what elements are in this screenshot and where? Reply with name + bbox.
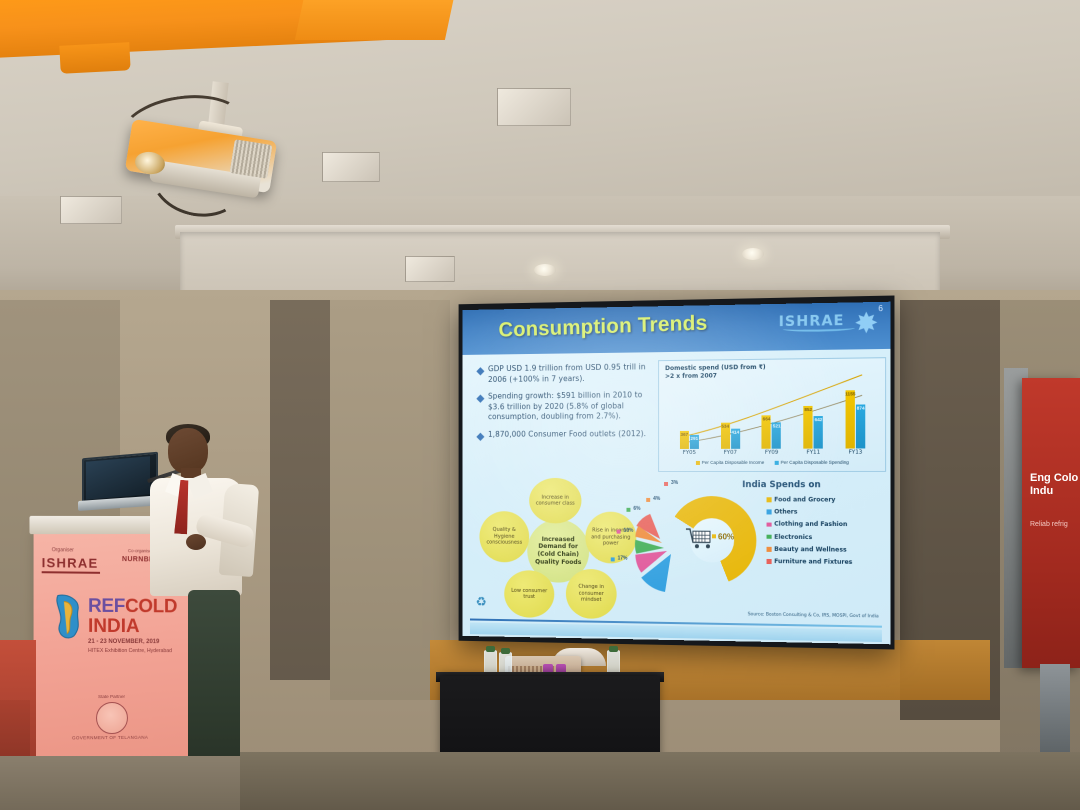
bar-value-label: 642 (815, 417, 823, 422)
bar-value-label: 414 (731, 429, 739, 434)
pie-chart-title: India Spends on (742, 480, 821, 490)
bar-value-label: 874 (857, 405, 865, 410)
bar: 852 (804, 406, 813, 449)
bar-value-label: 852 (804, 407, 812, 412)
legend-label: Furniture and Fixtures (774, 558, 852, 566)
bar: 414 (731, 428, 740, 449)
bottle-cap (486, 646, 495, 652)
legend-swatch (767, 547, 772, 552)
legend-item: Per Capita Disposable Spending (775, 460, 849, 465)
bullet-diamond-icon (476, 432, 484, 440)
bar-group: 534414 (721, 422, 740, 449)
bottle-cap (609, 646, 618, 652)
pie-value-label: 17% (618, 555, 628, 561)
banner-stand (1040, 664, 1070, 760)
ceiling-downlight (742, 248, 764, 260)
floor-carpet (240, 752, 1080, 810)
bar-value-label: 664 (763, 417, 771, 422)
legend-label: Food and Grocery (774, 496, 835, 503)
legend-item: Electronics (767, 533, 887, 541)
orange-beam-drop (59, 42, 130, 74)
bar-value-label: 367 (681, 432, 689, 437)
pie-value-label: 6% (633, 506, 640, 512)
legend-item: Clothing and Fashion (767, 521, 887, 529)
list-item: 1,870,000 Consumer Food outlets (2012). (478, 429, 655, 440)
legend-item: Furniture and Fixtures (767, 558, 887, 566)
bar-value-label: 521 (773, 424, 781, 429)
bar-group: 852642 (804, 406, 824, 449)
presentation-room-photo: Consumption Trends 6 ISHRAE ✸ GDP USD 1.… (0, 0, 1080, 810)
projected-slide: Consumption Trends 6 ISHRAE ✸ GDP USD 1.… (462, 302, 890, 645)
pie-swatch (617, 530, 621, 534)
event-venue: HITEX Exhibition Centre, Hyderabad (88, 648, 172, 654)
x-axis-tick-label: FY11 (807, 450, 821, 460)
laptop-display (86, 456, 150, 500)
bullet-text: 1,870,000 Consumer Food outlets (2012). (488, 429, 646, 440)
legend-label: Per Capita Disposable Income (702, 460, 765, 465)
bar-group: 664521 (762, 415, 781, 448)
bar-chart: Domestic spend (USD from ₹) >2 x from 20… (658, 357, 886, 472)
x-axis-tick-label: FY05 (683, 450, 696, 460)
bullet-diamond-icon (476, 367, 484, 375)
pie-swatch (664, 482, 668, 486)
bullet-text: Spending growth: $591 billion in 2010 to… (488, 390, 654, 422)
bar: 664 (762, 415, 771, 448)
bar-group: 367291 (680, 431, 699, 449)
india-map-icon (52, 591, 86, 641)
ceiling-downlight (534, 264, 556, 276)
bar: 1155 (846, 390, 855, 448)
x-axis-tick-label: FY13 (849, 449, 863, 459)
bar-chart-x-axis: FY05FY07FY09FY11FY13 (669, 449, 877, 460)
legend-label: Others (774, 509, 797, 516)
bar: 521 (772, 423, 781, 449)
legend-item: Per Capita Disposable Income (696, 460, 765, 465)
legend-swatch (767, 510, 772, 515)
legend-item: Beauty and Wellness (767, 546, 887, 554)
slide-canvas: Consumption Trends 6 ISHRAE ✸ GDP USD 1.… (462, 302, 890, 645)
organiser-caption: Organiser (52, 547, 74, 553)
bar-group: 1155874 (846, 390, 866, 448)
bar: 291 (690, 434, 699, 448)
recycle-icon: ♻ (476, 593, 491, 611)
bullet-text: GDP USD 1.9 trillion from USD 0.95 trill… (488, 362, 654, 385)
bar-value-label: 534 (721, 423, 729, 428)
ishrae-podium-logo: ISHRAE (42, 555, 99, 571)
bar: 874 (856, 404, 865, 448)
legend-label: Electronics (774, 533, 812, 540)
list-item: GDP USD 1.9 trillion from USD 0.95 trill… (478, 362, 655, 385)
pie-swatch (611, 557, 615, 561)
list-item: Spending growth: $591 billion in 2010 to… (478, 390, 655, 422)
bubble-satellite: Low consumer trust (504, 570, 554, 618)
bar-value-label: 1155 (845, 391, 855, 396)
orange-beam-segment (295, 0, 455, 40)
pie-value-label: 60% (718, 532, 734, 541)
bar-chart-bars: 3672915344146645218526421155874 (669, 381, 877, 449)
bubble-satellite: Quality & Hygiene consciousness (479, 511, 529, 562)
bar: 534 (721, 422, 730, 449)
legend-swatch (767, 498, 772, 503)
chart-note-line2: >2 x from 2007 (665, 372, 717, 380)
bullet-diamond-icon (476, 395, 484, 403)
bar: 642 (814, 416, 823, 448)
ceiling-vent (497, 88, 571, 126)
event-title-line1: REFCOLD (88, 597, 177, 617)
legend-swatch (767, 522, 772, 527)
legend-label: Per Capita Disposable Spending (781, 460, 849, 465)
legend-swatch (775, 460, 779, 464)
bubble-satellite: Increase in consumer class (529, 478, 581, 524)
shopping-cart-icon (685, 526, 715, 550)
pie-chart-legend: Food and GroceryOthersClothing and Fashi… (767, 496, 887, 571)
event-ref: REF (88, 596, 125, 617)
pie-swatch (626, 508, 630, 512)
legend-item: Others (767, 509, 887, 517)
legend-swatch (696, 460, 700, 464)
legend-label: Beauty and Wellness (774, 546, 847, 554)
bottle-cap (501, 648, 510, 654)
pie-value-label: 10% (624, 528, 634, 534)
state-partner-name: GOVERNMENT OF TELANGANA (72, 735, 148, 741)
ceiling-vent (60, 196, 122, 224)
pie-value-label: 3% (671, 480, 678, 486)
event-title-line2: INDIA (88, 617, 140, 636)
x-axis-tick-label: FY09 (765, 450, 779, 460)
logo-underline (42, 571, 100, 573)
chart-note-line1: Domestic spend (USD from ₹) (665, 364, 766, 372)
legend-swatch (767, 559, 772, 564)
bar-value-label: 291 (690, 435, 698, 440)
legend-label: Clothing and Fashion (774, 521, 847, 529)
ceiling-vent (322, 152, 380, 182)
pie-swatch (646, 498, 650, 502)
pie-value-label: 4% (653, 496, 660, 502)
event-cold: COLD (125, 596, 177, 617)
speaker-hand (186, 534, 206, 550)
telangana-seal-icon (96, 702, 128, 734)
slide-bullet-list: GDP USD 1.9 trillion from USD 0.95 trill… (478, 362, 655, 446)
event-dates: 21 - 23 NOVEMBER, 2019 (88, 639, 159, 645)
bar: 367 (680, 431, 689, 449)
legend-item: Food and Grocery (767, 496, 887, 503)
bar-chart-legend: Per Capita Disposable IncomePer Capita D… (667, 460, 879, 465)
x-axis-tick-label: FY07 (724, 450, 737, 460)
ceiling-vent (405, 256, 455, 282)
legend-swatch (767, 534, 772, 539)
ishrae-star-icon: ✸ (847, 306, 887, 341)
state-partner-caption: State Partner (98, 694, 125, 699)
chart-annotation: Domestic spend (USD from ₹) >2 x from 20… (665, 364, 766, 381)
banner-subtext: Reliab refrig (1030, 520, 1068, 530)
banner-headline: Eng Colo Indu (1030, 472, 1080, 498)
